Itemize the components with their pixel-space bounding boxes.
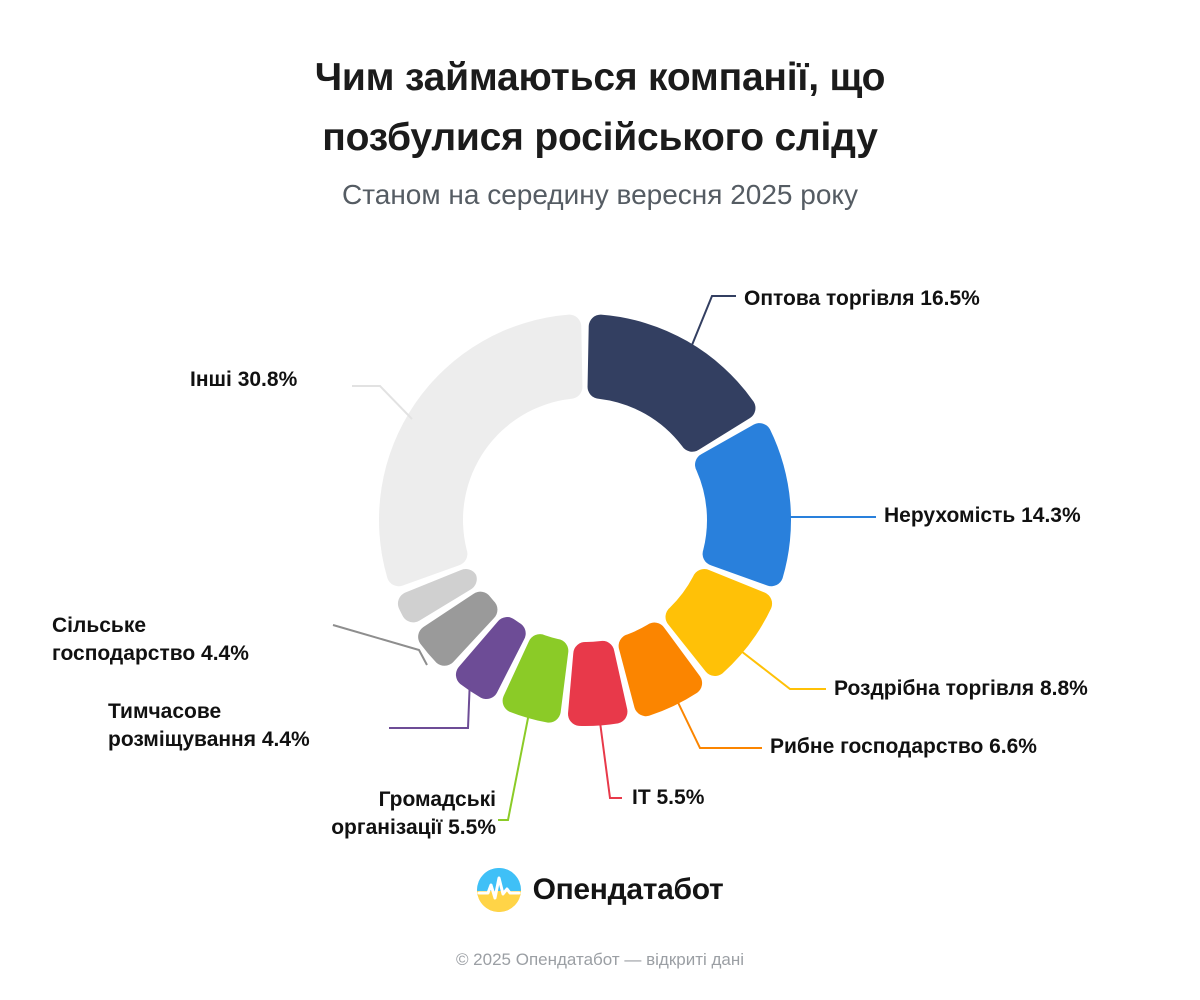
- leader-line-rozdribna-torgivlya: [741, 651, 826, 689]
- slice-label-rozdribna-torgivlya: Роздрібна торгівля 8.8%: [834, 675, 1088, 703]
- slice-label-it: IT 5.5%: [632, 784, 704, 812]
- donut-chart-svg: [0, 0, 1200, 1000]
- donut-slice-group: [379, 315, 791, 726]
- donut-slice[interactable]: [588, 315, 756, 452]
- chart-page: Чим займаються компанії, що позбулися ро…: [0, 0, 1200, 1000]
- donut-slice[interactable]: [379, 315, 582, 587]
- slice-label-opt-torgivlya: Оптова торгівля 16.5%: [744, 285, 980, 313]
- leader-line-inshi: [352, 386, 412, 419]
- copyright-text: © 2025 Опендатабот — відкриті дані: [0, 950, 1200, 970]
- donut-chart: Оптова торгівля 16.5% Нерухомість 14.3% …: [0, 0, 1200, 1000]
- opendatabot-pulse-icon: [477, 868, 521, 912]
- slice-label-neruhomist: Нерухомість 14.3%: [884, 502, 1081, 530]
- donut-slice[interactable]: [695, 423, 791, 586]
- slice-label-rybne-gospodarstvo: Рибне господарство 6.6%: [770, 733, 1037, 761]
- donut-slice[interactable]: [568, 641, 627, 726]
- brand-name: Опендатабот: [533, 873, 724, 907]
- leader-line-tymchasove-rozmishchuvannya: [389, 678, 470, 728]
- slice-label-tymchasove-rozmishchuvannya: Тимчасове розміщування 4.4%: [108, 698, 384, 753]
- leader-line-silske-gospodarstvo: [333, 625, 427, 665]
- slice-label-silske-gospodarstvo: Сільське господарство 4.4%: [52, 612, 328, 667]
- leader-line-it: [600, 722, 622, 798]
- slice-label-inshi: Інші 30.8%: [190, 366, 297, 394]
- leader-line-opt-torgivlya: [692, 296, 736, 345]
- slice-label-gromadski-organizacii: Громадські організації 5.5%: [264, 786, 496, 841]
- brand-footer: Опендатабот: [0, 868, 1200, 912]
- opendatabot-logo-icon: [477, 868, 521, 912]
- leader-line-gromadski-organizacii: [498, 713, 529, 820]
